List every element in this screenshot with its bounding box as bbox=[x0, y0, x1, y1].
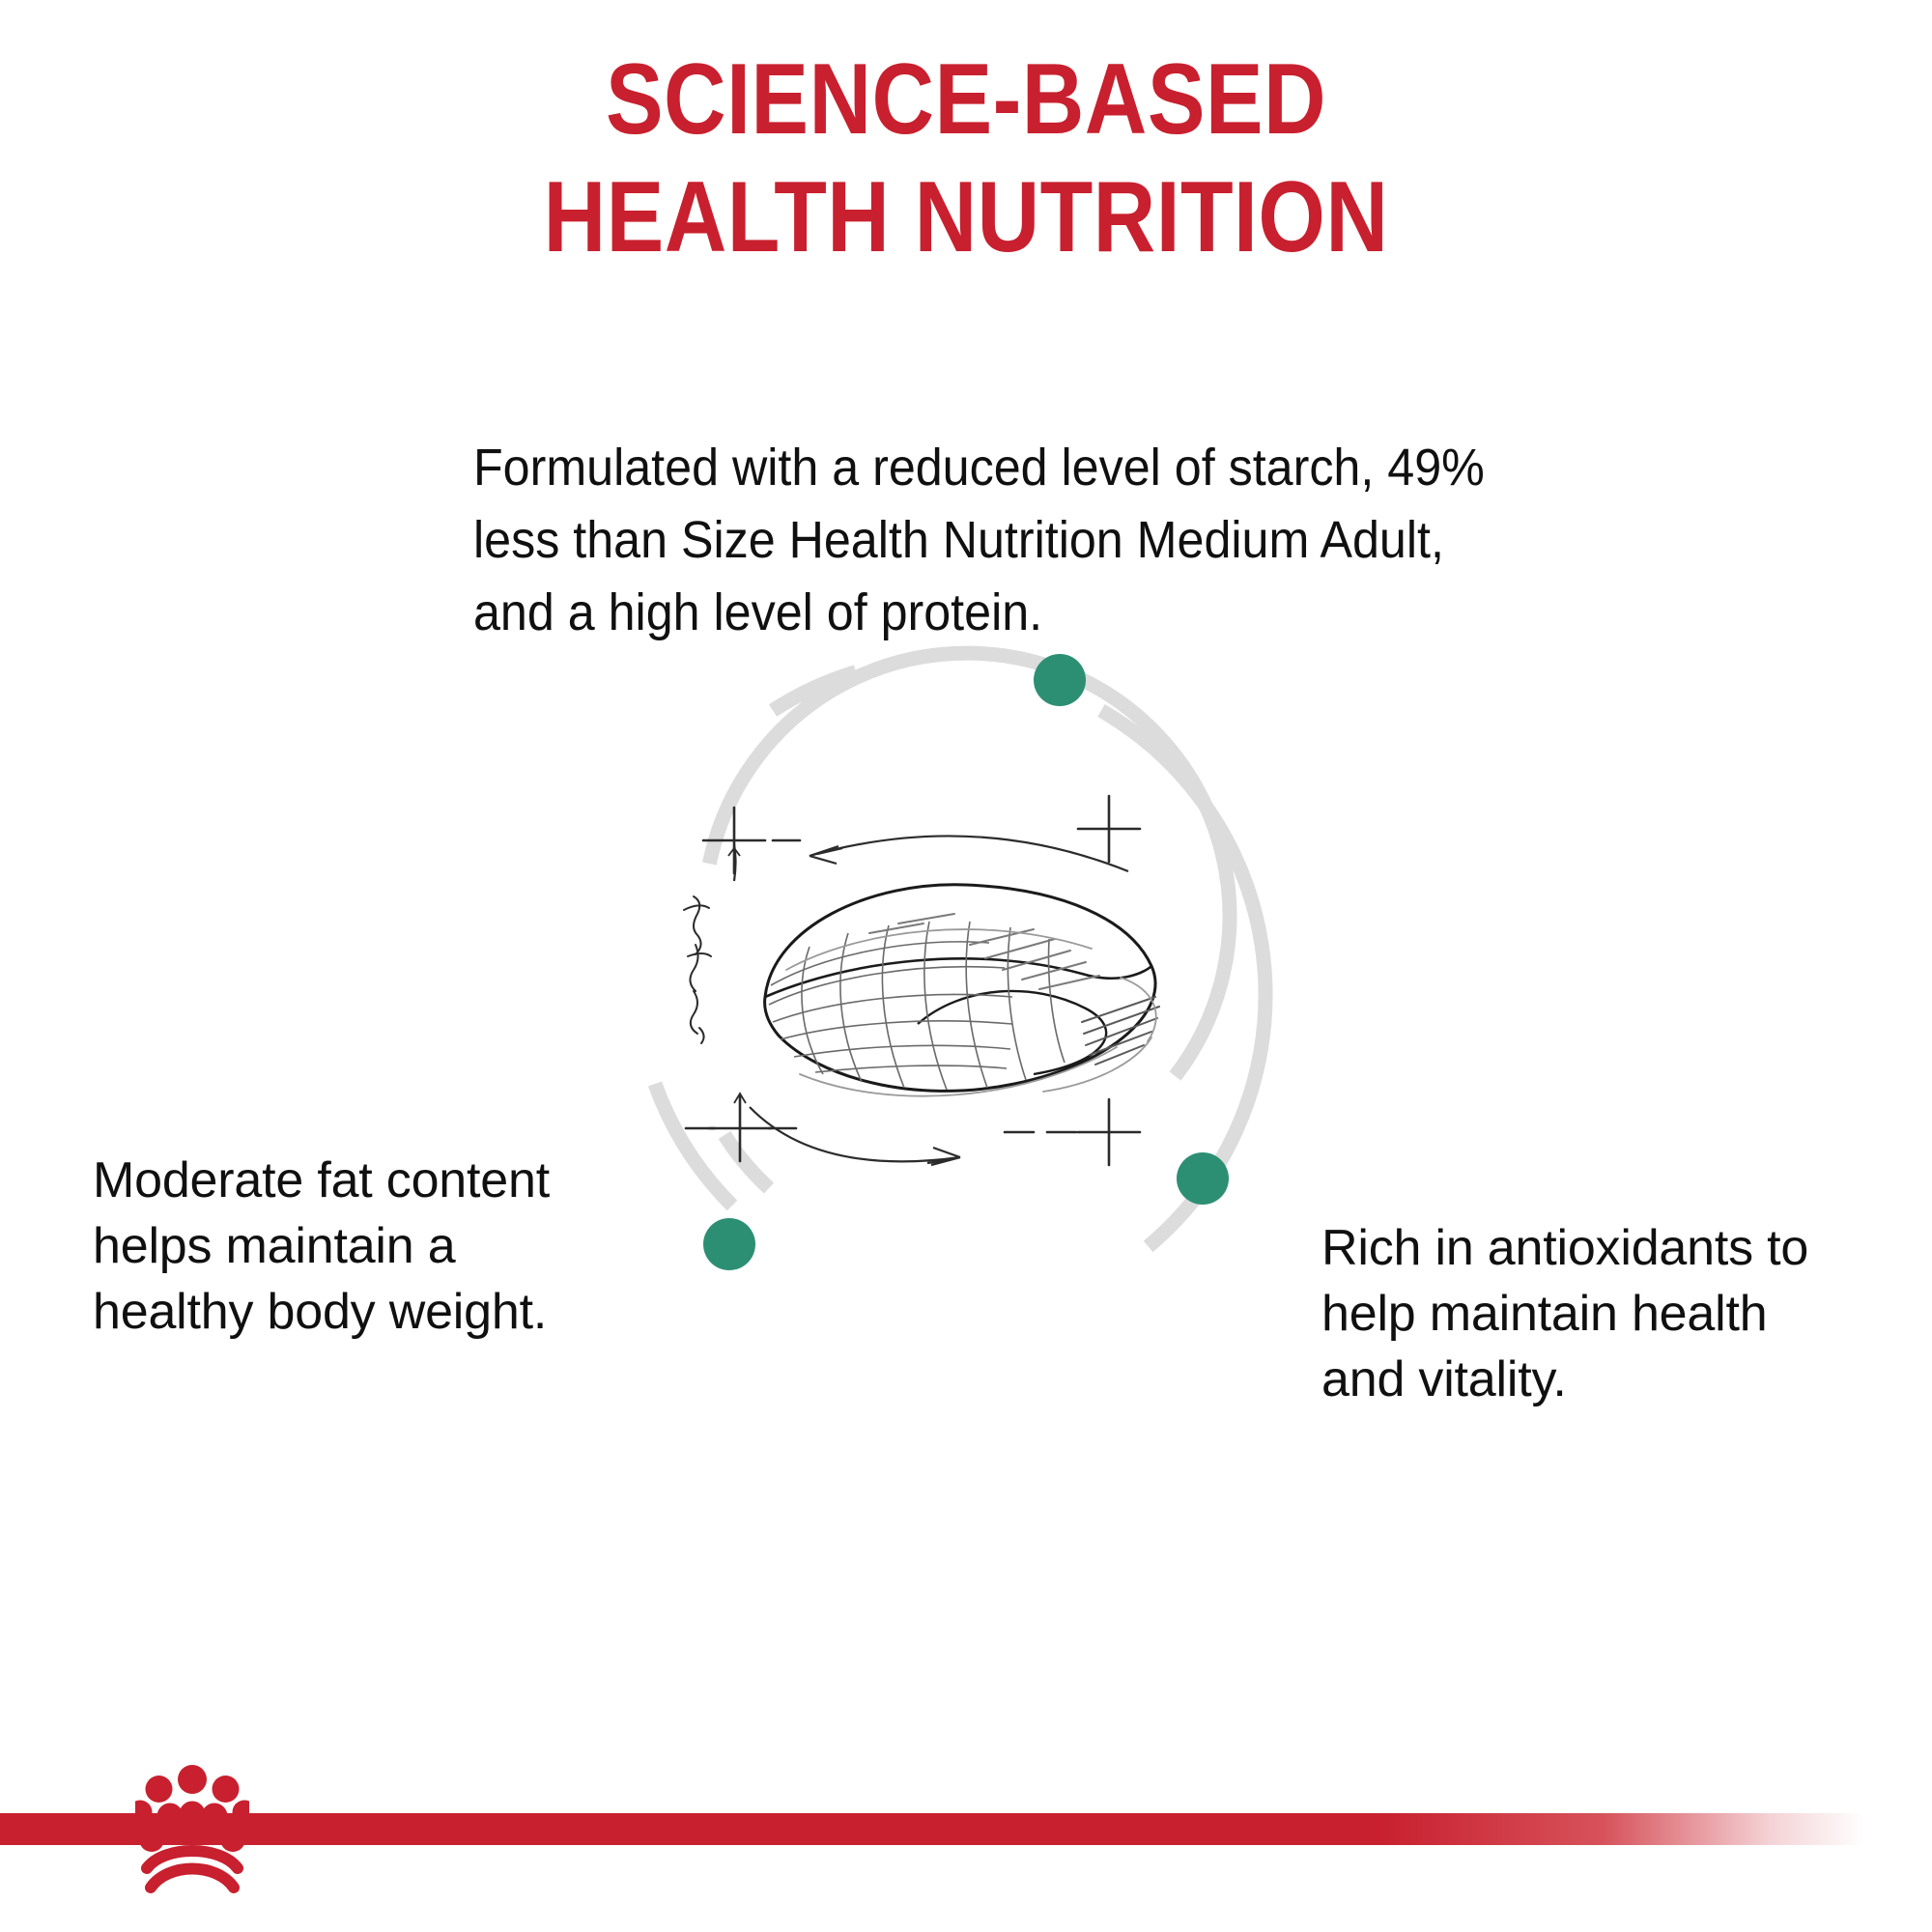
inner-ring-arc bbox=[709, 653, 1230, 1188]
node-dot-top bbox=[1034, 654, 1086, 706]
crosshair-bottom-right bbox=[1005, 1099, 1140, 1165]
crosshair-bottom-left bbox=[686, 1094, 796, 1161]
footer bbox=[0, 1758, 1932, 1932]
page-title-line-2: HEALTH NUTRITION bbox=[135, 158, 1797, 276]
kibble-shape bbox=[765, 885, 1159, 1096]
page-title: SCIENCE-BASED HEALTH NUTRITION bbox=[0, 41, 1932, 276]
royal-canin-crown-logo bbox=[135, 1758, 249, 1903]
crosshair-top-right bbox=[1078, 796, 1140, 862]
benefit-antioxidants: Rich in antioxidants to help maintain he… bbox=[1321, 1215, 1833, 1412]
dimension-arrow-bottom bbox=[750, 1107, 960, 1165]
benefit-moderate-fat: Moderate fat content helps maintain a he… bbox=[93, 1148, 576, 1345]
dimension-arrow-top bbox=[810, 836, 1128, 871]
node-dot-bottom-left bbox=[703, 1218, 755, 1270]
intro-paragraph: Formulated with a reduced level of starc… bbox=[473, 432, 1533, 649]
node-dot-right bbox=[1177, 1152, 1229, 1205]
footer-red-bar bbox=[0, 1813, 1864, 1845]
handwritten-note bbox=[684, 896, 711, 1043]
kibble-technical-sketch bbox=[684, 796, 1159, 1165]
kibble-design-diagram bbox=[580, 638, 1294, 1352]
page-title-line-1: SCIENCE-BASED bbox=[135, 41, 1797, 158]
